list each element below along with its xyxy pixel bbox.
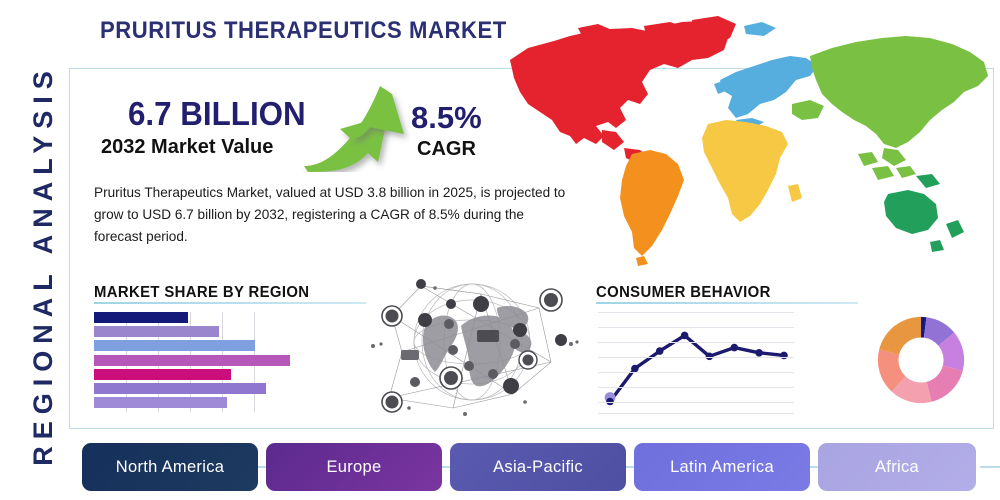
market-share-bar-chart [94,312,290,412]
bar-chart-bar [94,383,266,394]
world-map-icon [492,8,997,270]
bar-chart-bar [94,397,227,408]
global-network-globe-icon [365,268,580,420]
segment-donut-chart [872,311,970,409]
section-heading-consumer-behavior: CONSUMER BEHAVIOR [596,284,771,302]
bar-chart-bar [94,340,255,351]
bar-chart-bar [94,355,290,366]
region-button-row: North AmericaEuropeAsia-PacificLatin Ame… [82,443,998,491]
growth-arrow-icon [300,82,410,172]
bar-chart-bar [94,312,188,323]
page-title: PRURITUS THERAPEUTICS MARKET [100,17,507,45]
region-button-africa[interactable]: Africa [818,443,976,491]
line-chart-gridlines [598,310,794,415]
region-button-north-america[interactable]: North America [82,443,258,491]
region-button-europe[interactable]: Europe [266,443,442,491]
consumer-behavior-line-chart [598,310,794,415]
side-label-regional-analysis: REGIONAL ANALYSIS [21,45,65,485]
cagr-caption: CAGR [417,138,476,161]
market-share-heading-rule [94,302,366,304]
bar-chart-bar [94,326,219,337]
market-value-caption: 2032 Market Value [101,136,273,159]
region-button-latin-america[interactable]: Latin America [634,443,810,491]
consumer-behavior-heading-rule [596,302,858,304]
region-button-asia-pacific[interactable]: Asia-Pacific [450,443,626,491]
infographic-canvas: REGIONAL ANALYSIS PRURITUS THERAPEUTICS … [0,0,1000,500]
market-value-number: 6.7 BILLION [128,95,306,133]
section-heading-market-share: MARKET SHARE BY REGION [94,284,309,302]
bar-chart-bar [94,369,231,380]
cagr-number: 8.5% [411,100,482,136]
region-connector-5 [980,466,1000,468]
